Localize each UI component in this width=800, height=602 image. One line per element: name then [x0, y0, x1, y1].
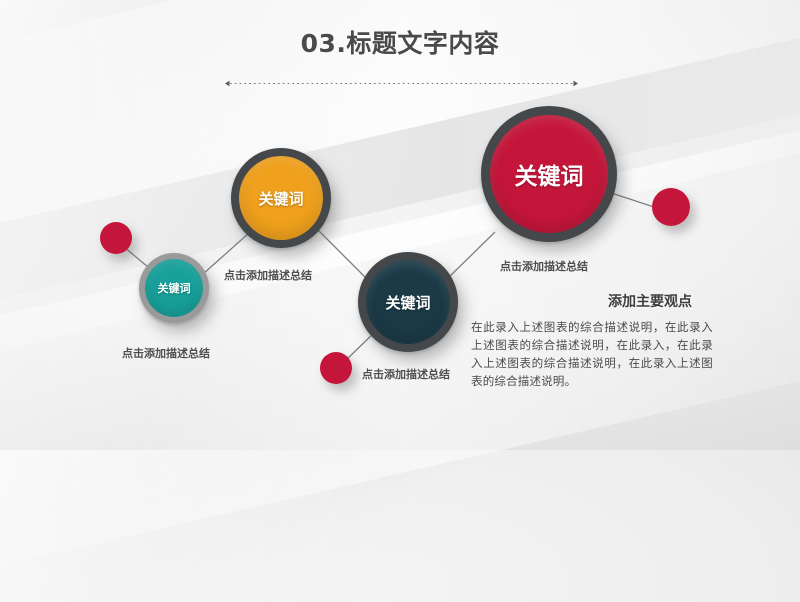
accent-dot-bottom-fill: [320, 352, 352, 384]
accent-dot-left[interactable]: [100, 222, 132, 254]
node-navy-keyword: 关键词: [385, 292, 430, 313]
node-navy-caption: 点击添加描述总结: [362, 366, 450, 382]
accent-dot-bottom[interactable]: [320, 352, 352, 384]
wire-navy-red: [448, 232, 495, 278]
node-orange-caption: 点击添加描述总结: [224, 267, 312, 283]
wire-orange-navy: [314, 226, 368, 280]
node-teal-small-caption: 点击添加描述总结: [122, 345, 210, 361]
node-red-caption: 点击添加描述总结: [500, 258, 588, 274]
side-panel-body: 在此录入上述图表的综合描述说明，在此录入上述图表的综合描述说明，在此录入，在此录…: [471, 318, 713, 390]
node-navy[interactable]: 关键词: [358, 252, 458, 352]
side-panel-heading: 添加主要观点: [608, 291, 692, 311]
node-teal-small-keyword: 关键词: [158, 280, 191, 296]
accent-dot-left-fill: [100, 222, 132, 254]
accent-dot-right[interactable]: [652, 188, 690, 226]
node-orange[interactable]: 关键词: [231, 148, 331, 248]
accent-dot-right-fill: [652, 188, 690, 226]
node-orange-keyword: 关键词: [258, 188, 303, 209]
node-red-keyword: 关键词: [515, 157, 584, 191]
node-teal-small[interactable]: 关键词: [139, 253, 209, 323]
node-red[interactable]: 关键词: [481, 106, 617, 242]
